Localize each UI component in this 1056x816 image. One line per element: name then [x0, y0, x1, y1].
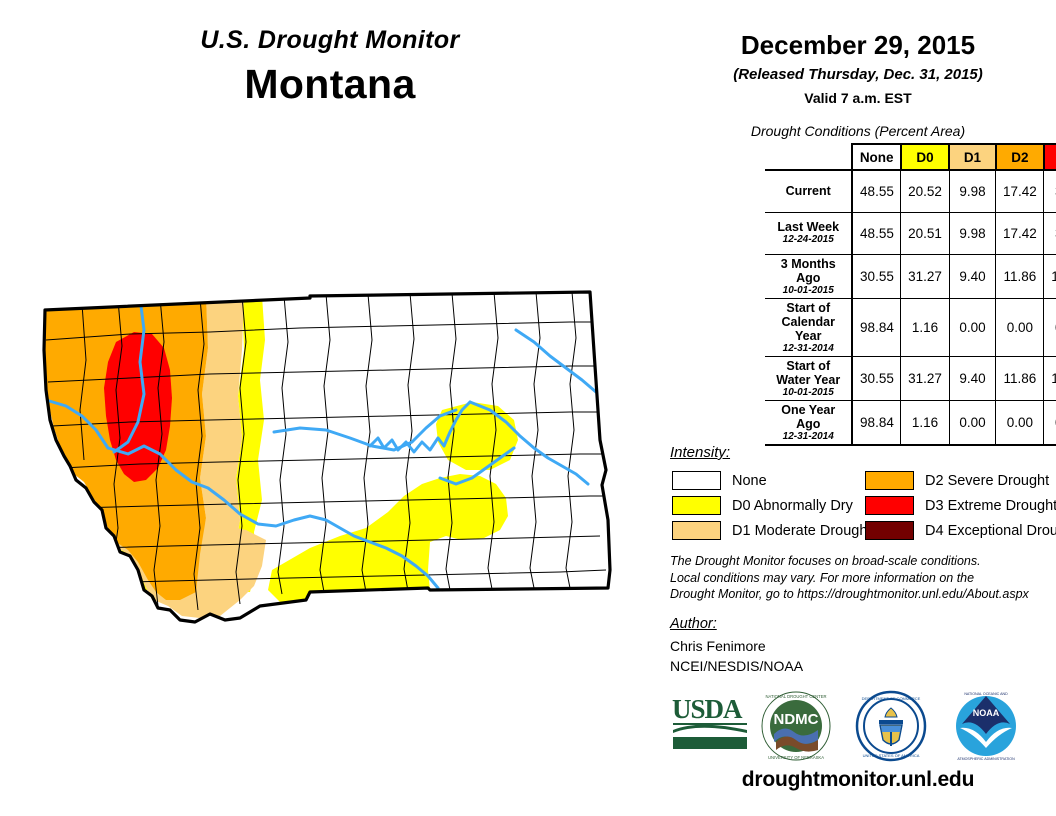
table-cell: 0.00: [1044, 401, 1056, 446]
table-cell: 0.00: [1044, 298, 1056, 356]
table-cell: 9.40: [949, 254, 996, 298]
table-row: Start ofWater Year10-01-201530.5531.279.…: [765, 356, 1056, 400]
legend-label: D3 Extreme Drought: [925, 498, 1056, 514]
legend-item: None: [672, 468, 871, 493]
svg-text:NATIONAL DROUGHT CENTER: NATIONAL DROUGHT CENTER: [765, 694, 826, 699]
valid-time: Valid 7 a.m. EST: [660, 90, 1056, 106]
table-cell: 98.84: [852, 401, 900, 446]
legend-title: Intensity:: [670, 444, 730, 461]
table-cell: 0.00: [949, 298, 996, 356]
disclaimer-line-1: The Drought Monitor focuses on broad-sca…: [670, 553, 1050, 570]
table-cell: 17.42: [996, 212, 1044, 254]
map-svg: [10, 270, 650, 660]
legend-swatch: [672, 471, 721, 490]
table-cell: 48.55: [852, 212, 900, 254]
drought-conditions-table: NoneD0D1D2D3D4 Current48.5520.529.9817.4…: [765, 143, 1056, 446]
legend-label: None: [732, 473, 767, 489]
legend-item: D0 Abnormally Dry: [672, 493, 871, 518]
table-cell: 0.00: [996, 298, 1044, 356]
table-cell: 11.86: [996, 356, 1044, 400]
table-row-label: 3 Months Ago10-01-2015: [765, 254, 852, 298]
legend-label: D1 Moderate Drought: [732, 523, 871, 539]
legend-label: D2 Severe Drought: [925, 473, 1049, 489]
legend-column-right: D2 Severe DroughtD3 Extreme DroughtD4 Ex…: [865, 468, 1056, 543]
table-cell: 0.00: [949, 401, 996, 446]
drought-monitor-page: U.S. Drought Monitor Montana: [0, 0, 1056, 816]
table-cell: 48.55: [852, 170, 900, 212]
table-cell: 20.52: [901, 170, 949, 212]
legend-column-left: NoneD0 Abnormally DryD1 Moderate Drought: [672, 468, 871, 543]
svg-text:UNITED STATES OF AMERICA: UNITED STATES OF AMERICA: [863, 753, 920, 758]
legend-swatch: [865, 496, 914, 515]
table-column-header-none: None: [852, 144, 900, 170]
table-row-label: Last Week12-24-2015: [765, 212, 852, 254]
svg-text:NATIONAL OCEANIC AND: NATIONAL OCEANIC AND: [964, 692, 1008, 696]
table-cell: 16.92: [1044, 254, 1056, 298]
table-cell: 1.16: [901, 401, 949, 446]
ndmc-logo: NDMC NATIONAL DROUGHT CENTER UNIVERSITY …: [760, 690, 832, 762]
disclaimer-text: The Drought Monitor focuses on broad-sca…: [670, 553, 1050, 603]
agency-logos: USDA NDMC NATIONAL DROUGHT CENTER UNIVER…: [660, 690, 1056, 770]
svg-text:USDA: USDA: [672, 694, 743, 724]
svg-text:NDMC: NDMC: [774, 711, 819, 728]
table-row-label: Start ofWater Year10-01-2015: [765, 356, 852, 400]
table-cell: 31.27: [901, 254, 949, 298]
table-cell: 9.40: [949, 356, 996, 400]
usda-logo: USDA: [670, 690, 750, 752]
author-block: Chris Fenimore NCEI/NESDIS/NOAA: [670, 637, 803, 677]
table-corner-cell: [765, 144, 852, 170]
table-row: 3 Months Ago10-01-201530.5531.279.4011.8…: [765, 254, 1056, 298]
table-column-header-d3: D3: [1044, 144, 1056, 170]
legend-label: D4 Exceptional Drought: [925, 523, 1056, 539]
table-row-date: 12-31-2014: [768, 431, 848, 442]
legend-label: D0 Abnormally Dry: [732, 498, 853, 514]
table-column-header-d2: D2: [996, 144, 1044, 170]
table-cell: 98.84: [852, 298, 900, 356]
author-name: Chris Fenimore: [670, 637, 803, 657]
table-cell: 3.54: [1044, 170, 1056, 212]
table-row-label: Current: [765, 170, 852, 212]
legend-swatch: [672, 521, 721, 540]
page-title-us-drought-monitor: U.S. Drought Monitor: [0, 26, 660, 55]
table-row: Last Week12-24-201548.5520.519.9817.423.…: [765, 212, 1056, 254]
table-column-header-d0: D0: [901, 144, 949, 170]
table-row: Start ofCalendar Year12-31-201498.841.16…: [765, 298, 1056, 356]
map-drought-layers: [10, 270, 650, 660]
table-cell: 9.98: [949, 170, 996, 212]
release-date: (Released Thursday, Dec. 31, 2015): [660, 66, 1056, 83]
table-row-date: 10-01-2015: [768, 387, 848, 398]
report-date: December 29, 2015: [660, 30, 1056, 61]
table-cell: 16.92: [1044, 356, 1056, 400]
legend-item: D3 Extreme Drought: [865, 493, 1056, 518]
website-url[interactable]: droughtmonitor.unl.edu: [660, 768, 1056, 792]
table-cell: 17.42: [996, 170, 1044, 212]
author-affiliation: NCEI/NESDIS/NOAA: [670, 657, 803, 677]
table-cell: 0.00: [996, 401, 1044, 446]
table-row-label: Start ofCalendar Year12-31-2014: [765, 298, 852, 356]
table-cell: 30.55: [852, 356, 900, 400]
disclaimer-line-3: Drought Monitor, go to https://droughtmo…: [670, 586, 1050, 603]
table-body: Current48.5520.529.9817.423.540.00Last W…: [765, 170, 1056, 445]
legend-swatch: [672, 496, 721, 515]
svg-text:NOAA: NOAA: [973, 708, 1000, 718]
legend-swatch: [865, 521, 914, 540]
legend-item: D2 Severe Drought: [865, 468, 1056, 493]
table-cell: 3.54: [1044, 212, 1056, 254]
map-title-block: U.S. Drought Monitor Montana: [0, 26, 660, 108]
table-header: NoneD0D1D2D3D4: [765, 144, 1056, 170]
table-row-date: 10-01-2015: [768, 285, 848, 296]
table-cell: 11.86: [996, 254, 1044, 298]
table-row-date: 12-24-2015: [768, 234, 848, 245]
legend-swatch: [865, 471, 914, 490]
table-row-date: 12-31-2014: [768, 343, 848, 354]
disclaimer-line-2: Local conditions may vary. For more info…: [670, 570, 1050, 587]
svg-text:ATMOSPHERIC ADMINISTRATION: ATMOSPHERIC ADMINISTRATION: [957, 757, 1015, 761]
table-cell: 31.27: [901, 356, 949, 400]
legend-item: D4 Exceptional Drought: [865, 518, 1056, 543]
table-row: One Year Ago12-31-201498.841.160.000.000…: [765, 401, 1056, 446]
table-caption: Drought Conditions (Percent Area): [660, 123, 1056, 139]
info-panel: December 29, 2015 (Released Thursday, De…: [660, 0, 1056, 816]
montana-drought-map[interactable]: [10, 270, 650, 660]
table-cell: 9.98: [949, 212, 996, 254]
svg-text:DEPARTMENT OF COMMERCE: DEPARTMENT OF COMMERCE: [862, 696, 921, 701]
noaa-logo: NOAA NATIONAL OCEANIC AND ATMOSPHERIC AD…: [950, 690, 1022, 762]
page-title-state: Montana: [0, 61, 660, 108]
table-cell: 20.51: [901, 212, 949, 254]
table-header-row: NoneD0D1D2D3D4: [765, 144, 1056, 170]
table-row: Current48.5520.529.9817.423.540.00: [765, 170, 1056, 212]
usdc-seal: DEPARTMENT OF COMMERCE UNITED STATES OF …: [855, 690, 927, 762]
legend-item: D1 Moderate Drought: [672, 518, 871, 543]
svg-text:UNIVERSITY OF NEBRASKA: UNIVERSITY OF NEBRASKA: [768, 755, 824, 760]
table-cell: 30.55: [852, 254, 900, 298]
author-label: Author:: [670, 616, 717, 632]
table-column-header-d1: D1: [949, 144, 996, 170]
table-row-label: One Year Ago12-31-2014: [765, 401, 852, 446]
table-cell: 1.16: [901, 298, 949, 356]
